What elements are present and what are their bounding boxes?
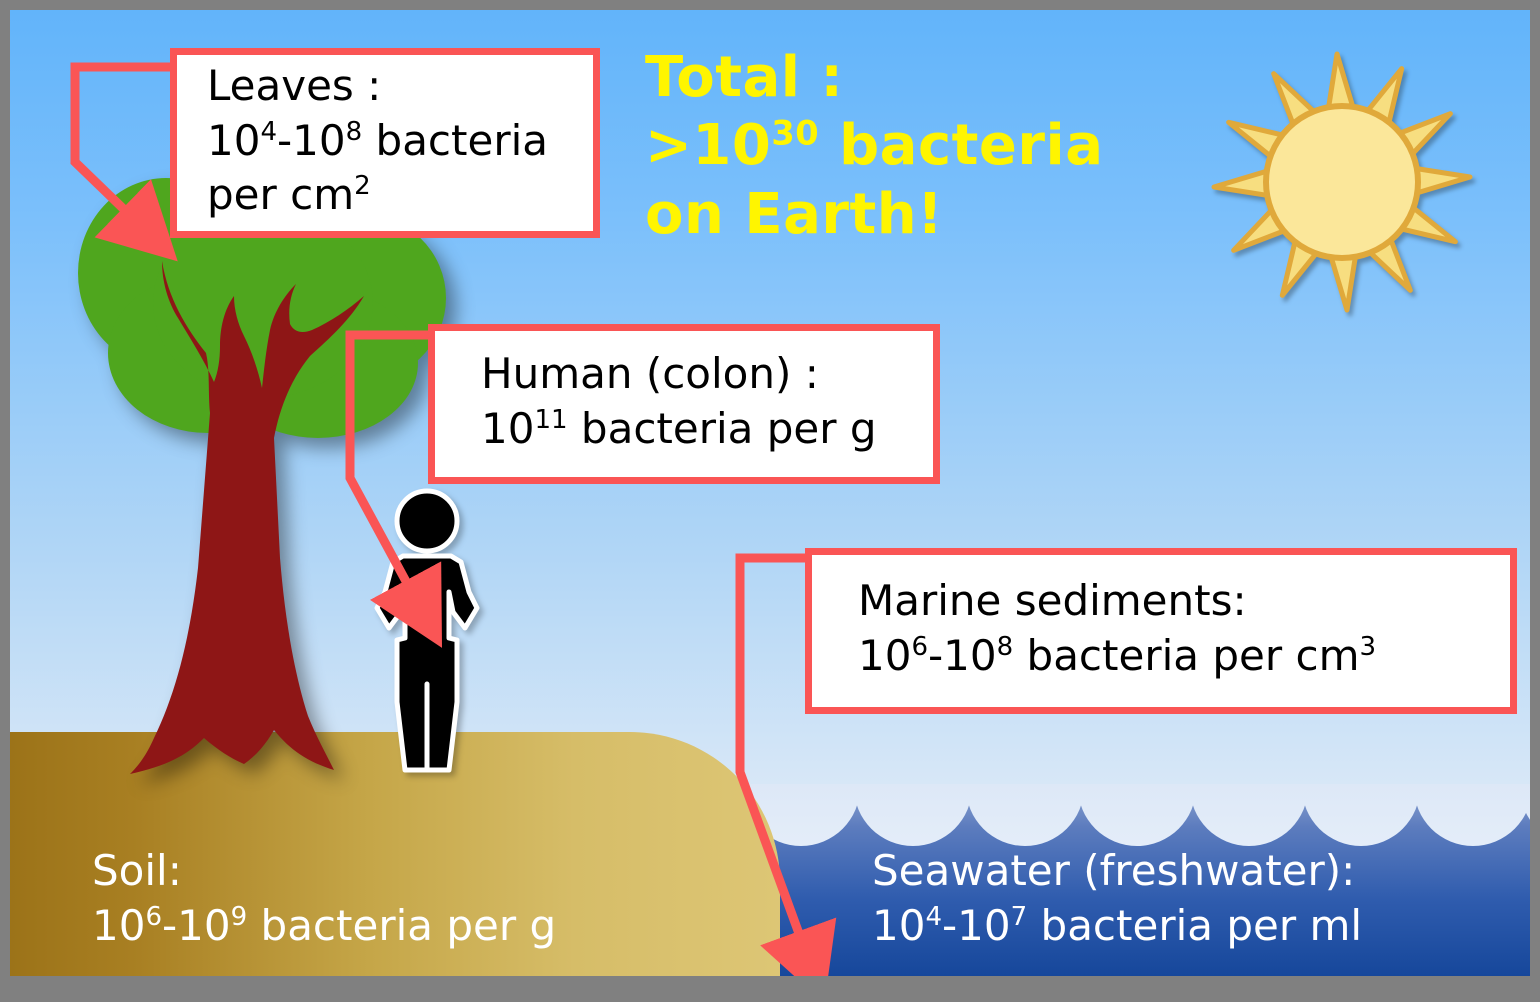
label-seawater: Seawater (freshwater): 104-107 bacteria … (872, 844, 1362, 953)
title-line-3: on Earth! (645, 181, 1165, 249)
callout-marine-sediments[interactable]: Marine sediments: 106-108 bacteria per c… (805, 548, 1517, 714)
label-soil-heading: Soil: (92, 844, 556, 899)
wave-icon (1190, 784, 1308, 846)
callout-leaves-heading: Leaves : (207, 59, 593, 114)
sun-icon (1192, 32, 1492, 332)
callout-human-heading: Human (colon) : (481, 347, 933, 402)
infographic-frame: Total : >1030 bacteria on Earth! Leaves … (0, 0, 1540, 1002)
callout-leaves[interactable]: Leaves : 104-108 bacteria per cm2 (170, 48, 600, 238)
label-soil-value: 106-109 bacteria per g (92, 899, 556, 954)
wave-icon (1078, 784, 1196, 846)
callout-human-value: 1011 bacteria per g (481, 402, 933, 457)
title-line-2: >1030 bacteria (645, 112, 1165, 180)
person-silhouette-icon (365, 488, 490, 778)
label-soil: Soil: 106-109 bacteria per g (92, 844, 556, 953)
scene-canvas: Total : >1030 bacteria on Earth! Leaves … (10, 10, 1530, 976)
label-seawater-value: 104-107 bacteria per ml (872, 899, 1362, 954)
wave-icon (854, 784, 972, 846)
callout-marine-heading: Marine sediments: (858, 574, 1510, 629)
title-line-1: Total : (645, 44, 1165, 112)
page-title: Total : >1030 bacteria on Earth! (645, 44, 1165, 249)
wave-icon (1302, 784, 1420, 846)
callout-leaves-unit: per cm2 (207, 168, 593, 223)
callout-leaves-value: 104-108 bacteria (207, 114, 593, 169)
wave-icon (966, 784, 1084, 846)
callout-marine-value: 106-108 bacteria per cm3 (858, 629, 1510, 684)
wave-icon (1414, 784, 1530, 846)
label-seawater-heading: Seawater (freshwater): (872, 844, 1362, 899)
callout-human-colon[interactable]: Human (colon) : 1011 bacteria per g (428, 324, 940, 484)
